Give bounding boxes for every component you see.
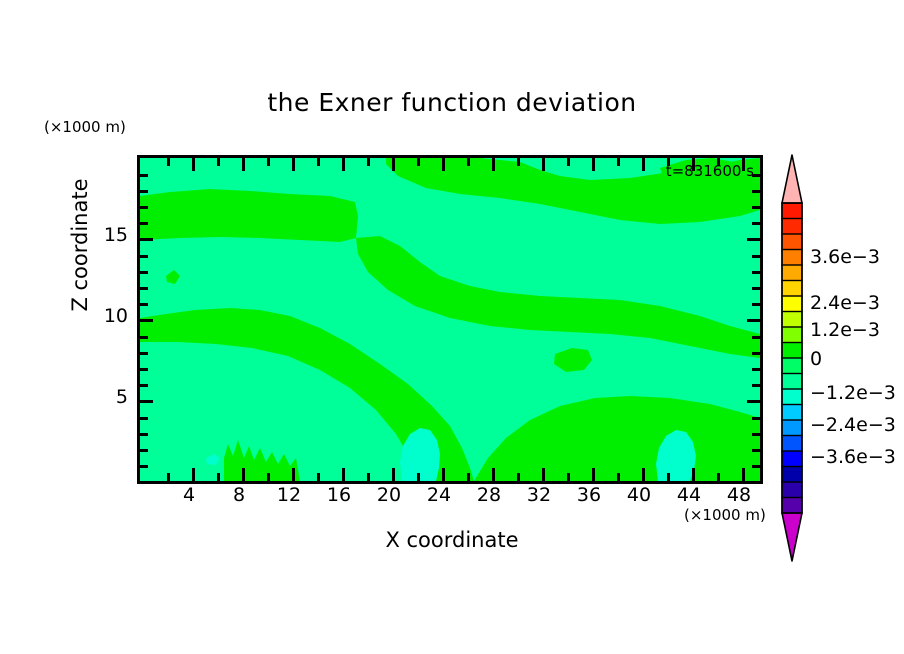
y-tick-minor (140, 465, 148, 468)
x-tick-major-bottom (542, 468, 545, 481)
y-tick-minor-right (752, 433, 760, 436)
x-tick-minor-bottom (367, 473, 370, 481)
contour-plot-area: t=831600 s (137, 155, 763, 484)
y-tick-minor (140, 190, 148, 193)
colorbar-tick-label: −3.6e−3 (810, 446, 896, 468)
y-tick-minor-right (752, 190, 760, 193)
y-tick-minor-right (752, 255, 760, 258)
colorbar-band (782, 436, 802, 452)
y-tick-minor-right (752, 287, 760, 290)
x-tick-major-bottom (742, 468, 745, 481)
y-tick-minor (140, 384, 148, 387)
x-tick-minor-bottom (567, 473, 570, 481)
y-tick-minor-right (752, 368, 760, 371)
colorbar-over-arrow (782, 155, 802, 203)
y-tick-minor (140, 336, 148, 339)
x-tick-minor (567, 158, 570, 166)
y-tick-major-right (747, 238, 760, 241)
y-axis-unit-label: (×1000 m) (44, 118, 126, 136)
timestamp-annotation: t=831600 s (666, 162, 754, 180)
x-tick-label: 12 (277, 484, 301, 506)
x-tick-major (642, 158, 645, 171)
y-tick-minor-right (752, 352, 760, 355)
y-tick-label: 15 (98, 224, 128, 246)
y-tick-minor-right (752, 222, 760, 225)
x-tick-major (592, 158, 595, 171)
colorbar-tick-label: −2.4e−3 (810, 414, 896, 436)
x-tick-major-bottom (342, 468, 345, 481)
y-tick-minor-right (752, 417, 760, 420)
y-tick-minor-right (752, 336, 760, 339)
x-tick-minor-bottom (217, 473, 220, 481)
x-tick-minor (267, 158, 270, 166)
contour-field (140, 158, 760, 481)
y-tick-label: 10 (98, 305, 128, 327)
colorbar-band (782, 389, 802, 405)
y-tick-minor (140, 449, 148, 452)
x-tick-major-bottom (642, 468, 645, 481)
x-tick-minor-bottom (517, 473, 520, 481)
x-tick-minor (217, 158, 220, 166)
colorbar-band (782, 482, 802, 498)
colorbar-scale (782, 203, 802, 513)
y-tick-minor-right (752, 206, 760, 209)
y-tick-minor (140, 174, 148, 177)
y-tick-major (140, 238, 153, 241)
y-tick-major (140, 400, 153, 403)
y-tick-minor-right (752, 303, 760, 306)
y-tick-major (140, 319, 153, 322)
colorbar-band (782, 374, 802, 390)
x-tick-label: 24 (427, 484, 451, 506)
colorbar-band (782, 281, 802, 297)
y-tick-major-right (747, 400, 760, 403)
colorbar-band (782, 467, 802, 483)
colorbar-tick-label: 2.4e−3 (810, 292, 880, 314)
y-tick-minor-right (752, 271, 760, 274)
x-tick-major-bottom (592, 468, 595, 481)
colorbar-band (782, 265, 802, 281)
y-tick-major-right (747, 319, 760, 322)
x-tick-major-bottom (692, 468, 695, 481)
x-tick-minor (367, 158, 370, 166)
x-tick-minor (317, 158, 320, 166)
page-title: the Exner function deviation (0, 88, 904, 117)
x-tick-minor-bottom (167, 473, 170, 481)
colorbar-tick-label: 0 (810, 348, 822, 370)
x-tick-label: 32 (527, 484, 551, 506)
y-tick-minor (140, 287, 148, 290)
x-tick-minor-bottom (267, 473, 270, 481)
x-tick-label: 44 (677, 484, 701, 506)
y-tick-minor (140, 417, 148, 420)
y-tick-label: 5 (98, 386, 128, 408)
x-tick-major (492, 158, 495, 171)
y-tick-minor-right (752, 465, 760, 468)
colorbar-band (782, 296, 802, 312)
x-tick-minor-bottom (617, 473, 620, 481)
y-tick-minor (140, 271, 148, 274)
x-tick-major (542, 158, 545, 171)
x-axis-unit-label: (×1000 m) (684, 506, 766, 524)
y-tick-minor-right (752, 449, 760, 452)
colorbar-tick-label: 3.6e−3 (810, 246, 880, 268)
x-tick-minor-bottom (717, 473, 720, 481)
x-tick-major-bottom (492, 468, 495, 481)
colorbar-band (782, 203, 802, 219)
x-tick-major (192, 158, 195, 171)
x-tick-label: 36 (577, 484, 601, 506)
colorbar-band (782, 219, 802, 235)
x-tick-label: 28 (477, 484, 501, 506)
x-tick-minor (417, 158, 420, 166)
x-tick-label: 40 (627, 484, 651, 506)
x-axis-title: X coordinate (0, 528, 904, 552)
x-tick-major-bottom (192, 468, 195, 481)
x-tick-major (442, 158, 445, 171)
colorbar-band (782, 234, 802, 250)
x-tick-minor-bottom (467, 473, 470, 481)
x-tick-minor-bottom (317, 473, 320, 481)
x-tick-major (392, 158, 395, 171)
y-tick-minor (140, 206, 148, 209)
x-tick-minor (167, 158, 170, 166)
x-tick-minor-bottom (667, 473, 670, 481)
colorbar-band (782, 312, 802, 328)
x-tick-minor (467, 158, 470, 166)
x-tick-label: 16 (327, 484, 351, 506)
y-axis-title: Z coordinate (68, 135, 92, 355)
y-tick-minor-right (752, 384, 760, 387)
x-tick-label: 8 (233, 484, 245, 506)
x-tick-major (342, 158, 345, 171)
x-tick-major-bottom (392, 468, 395, 481)
colorbar-band (782, 498, 802, 514)
x-tick-major-bottom (292, 468, 295, 481)
x-tick-minor (617, 158, 620, 166)
x-tick-label: 48 (727, 484, 751, 506)
colorbar-band (782, 327, 802, 343)
colorbar (782, 203, 802, 513)
y-tick-minor (140, 255, 148, 258)
x-tick-label: 4 (183, 484, 195, 506)
x-tick-minor-bottom (417, 473, 420, 481)
colorbar-band (782, 250, 802, 266)
colorbar-band (782, 451, 802, 467)
figure-canvas: the Exner function deviation (×1000 m) (… (0, 0, 904, 654)
x-tick-label: 20 (377, 484, 401, 506)
x-tick-major-bottom (242, 468, 245, 481)
x-tick-major (292, 158, 295, 171)
colorbar-band (782, 420, 802, 436)
x-tick-major-bottom (442, 468, 445, 481)
y-tick-minor (140, 352, 148, 355)
y-tick-minor (140, 303, 148, 306)
y-tick-minor (140, 222, 148, 225)
colorbar-band (782, 405, 802, 421)
x-tick-minor (517, 158, 520, 166)
y-tick-minor (140, 433, 148, 436)
colorbar-band (782, 343, 802, 359)
colorbar-tick-label: −1.2e−3 (810, 382, 896, 404)
colorbar-tick-label: 1.2e−3 (810, 319, 880, 341)
colorbar-band (782, 358, 802, 374)
y-tick-minor (140, 368, 148, 371)
x-tick-major (242, 158, 245, 171)
